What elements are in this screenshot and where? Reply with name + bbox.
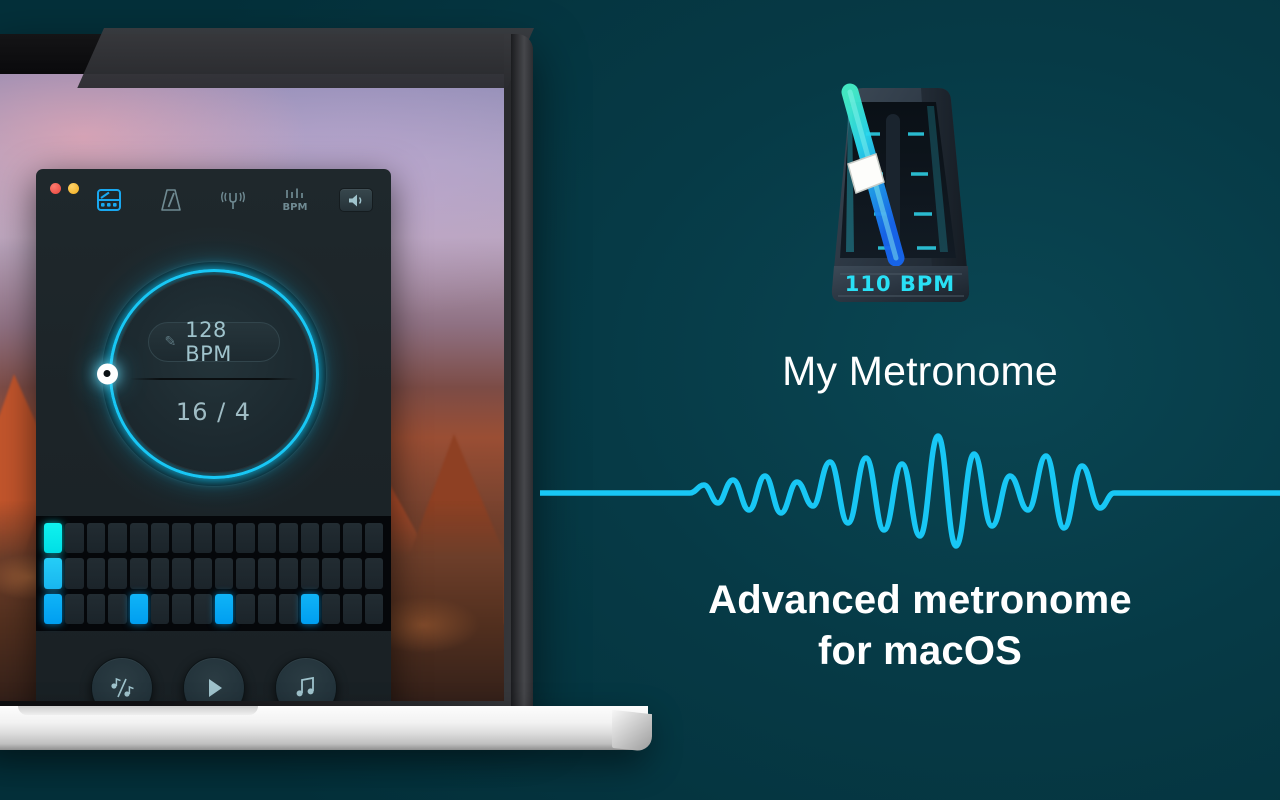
sequencer-cell[interactable] bbox=[87, 558, 105, 588]
sequencer-cell[interactable] bbox=[343, 558, 361, 588]
app-window: BPM bbox=[36, 169, 391, 701]
sequencer-cell[interactable] bbox=[236, 594, 254, 624]
bezel-highlight bbox=[77, 28, 534, 88]
metronome-app-icon: 110 BPM bbox=[788, 62, 1008, 312]
metronome-icon[interactable] bbox=[153, 184, 189, 216]
sequencer-row bbox=[44, 558, 383, 588]
sequencer-cell[interactable] bbox=[343, 523, 361, 553]
bpm-value-field[interactable]: ✎ 128 BPM bbox=[148, 322, 280, 362]
sequencer-cell[interactable] bbox=[130, 594, 148, 624]
app-icon-bpm-display: 110 BPM bbox=[845, 272, 955, 296]
sequencer-cell[interactable] bbox=[87, 523, 105, 553]
sequencer-cell[interactable] bbox=[108, 594, 126, 624]
sequencer-cell[interactable] bbox=[279, 523, 297, 553]
sequencer-cell[interactable] bbox=[172, 523, 190, 553]
transport-controls bbox=[36, 631, 391, 701]
note-division-button[interactable] bbox=[91, 657, 153, 702]
sequencer-cell[interactable] bbox=[365, 523, 383, 553]
sequencer-cell[interactable] bbox=[215, 523, 233, 553]
laptop-bezel-top bbox=[0, 34, 504, 74]
sequencer-cell[interactable] bbox=[258, 523, 276, 553]
sequencer-cell[interactable] bbox=[322, 558, 340, 588]
sequencer-cell[interactable] bbox=[301, 523, 319, 553]
sequencer-cell[interactable] bbox=[108, 523, 126, 553]
sequencer-row bbox=[44, 594, 383, 624]
sequencer-cell[interactable] bbox=[44, 594, 62, 624]
sequencer-cell[interactable] bbox=[236, 558, 254, 588]
sequencer-cell[interactable] bbox=[365, 594, 383, 624]
tuning-fork-icon[interactable] bbox=[215, 184, 251, 216]
sequencer-cell[interactable] bbox=[215, 594, 233, 624]
sequencer-cell[interactable] bbox=[172, 594, 190, 624]
laptop-base bbox=[0, 706, 648, 750]
sequencer-row bbox=[44, 523, 383, 553]
laptop-mockup: BPM bbox=[0, 34, 548, 734]
sequencer-cell[interactable] bbox=[343, 594, 361, 624]
sequencer-cell[interactable] bbox=[65, 558, 83, 588]
sequencer-cell[interactable] bbox=[151, 558, 169, 588]
sequencer-cell[interactable] bbox=[301, 558, 319, 588]
bpm-dial-area: ✎ 128 BPM 16 / 4 bbox=[36, 231, 391, 516]
sequencer-cell[interactable] bbox=[322, 594, 340, 624]
sequencer-cell[interactable] bbox=[65, 523, 83, 553]
step-sequencer bbox=[36, 516, 391, 631]
sequencer-cell[interactable] bbox=[130, 523, 148, 553]
tagline: Advanced metronome for macOS bbox=[560, 575, 1280, 677]
sequencer-cell[interactable] bbox=[194, 594, 212, 624]
sequencer-cell[interactable] bbox=[215, 558, 233, 588]
pencil-icon: ✎ bbox=[165, 333, 177, 350]
app-toolbar: BPM bbox=[36, 169, 391, 231]
sequencer-cell[interactable] bbox=[365, 558, 383, 588]
sequencer-cell[interactable] bbox=[87, 594, 105, 624]
sequencer-cell[interactable] bbox=[258, 594, 276, 624]
sequencer-cell[interactable] bbox=[236, 523, 254, 553]
bpm-dial[interactable]: ✎ 128 BPM 16 / 4 bbox=[102, 262, 326, 486]
sequencer-cell[interactable] bbox=[151, 523, 169, 553]
sequencer-cell[interactable] bbox=[279, 594, 297, 624]
laptop-lid: BPM bbox=[0, 34, 533, 710]
audio-waveform bbox=[540, 418, 1280, 568]
sequencer-cell[interactable] bbox=[108, 558, 126, 588]
bpm-value: 128 BPM bbox=[185, 318, 262, 366]
sound-button[interactable] bbox=[275, 657, 337, 702]
tagline-line-2: for macOS bbox=[560, 626, 1280, 677]
promo-panel: 110 BPM My Metronome Advanced metronome … bbox=[560, 0, 1280, 800]
bpm-icon-label: BPM bbox=[282, 202, 307, 213]
play-button[interactable] bbox=[183, 657, 245, 702]
sequencer-cell[interactable] bbox=[194, 558, 212, 588]
sequencer-cell[interactable] bbox=[194, 523, 212, 553]
dial-face bbox=[115, 275, 313, 473]
sequencer-cell[interactable] bbox=[322, 523, 340, 553]
time-signature-value[interactable]: 16 / 4 bbox=[102, 398, 326, 426]
bpm-icon[interactable]: BPM bbox=[277, 184, 313, 216]
sequencer-cell[interactable] bbox=[44, 523, 62, 553]
sequencer-cell[interactable] bbox=[65, 594, 83, 624]
app-title: My Metronome bbox=[560, 348, 1280, 395]
dial-knob-handle[interactable] bbox=[97, 363, 118, 384]
sequencer-cell[interactable] bbox=[279, 558, 297, 588]
tagline-line-1: Advanced metronome bbox=[560, 575, 1280, 626]
laptop-lid-edge bbox=[511, 34, 533, 710]
sequencer-cell[interactable] bbox=[172, 558, 190, 588]
sequencer-icon[interactable] bbox=[91, 184, 127, 216]
sequencer-cell[interactable] bbox=[44, 558, 62, 588]
sequencer-cell[interactable] bbox=[258, 558, 276, 588]
sequencer-cell[interactable] bbox=[301, 594, 319, 624]
laptop-screen: BPM bbox=[0, 74, 504, 701]
sequencer-cell[interactable] bbox=[130, 558, 148, 588]
dial-divider bbox=[130, 378, 298, 380]
sequencer-cell[interactable] bbox=[151, 594, 169, 624]
speaker-icon[interactable] bbox=[339, 188, 373, 212]
